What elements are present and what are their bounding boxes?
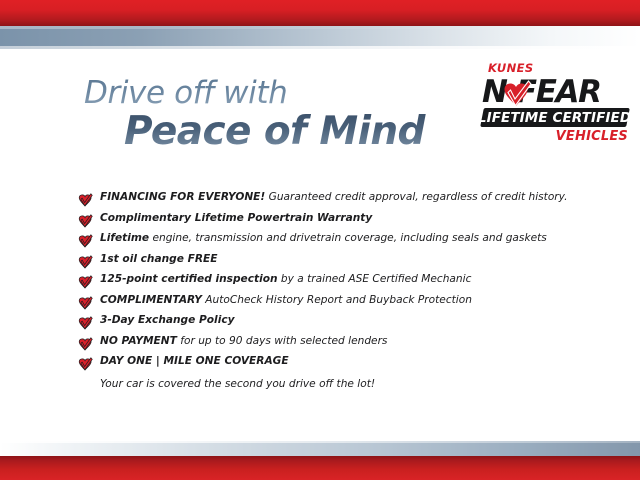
benefit-row: FINANCING FOR EVERYONE! Guaranteed credi…: [78, 191, 578, 207]
heart-check-icon: [78, 337, 93, 351]
benefit-rest: Guaranteed credit approval, regardless o…: [265, 191, 567, 203]
heart-check-icon: [500, 77, 532, 109]
bottom-silver-highlight: [0, 441, 640, 443]
benefit-text: FINANCING FOR EVERYONE! Guaranteed credi…: [100, 191, 567, 205]
benefit-bold: FINANCING FOR EVERYONE!: [100, 191, 265, 203]
benefit-row: DAY ONE | MILE ONE COVERAGE: [78, 355, 578, 371]
logo-lifetime-certified-text: LIFETIME CERTIFIED: [478, 109, 631, 125]
heart-check-icon: [78, 255, 93, 269]
benefit-bold: Lifetime: [100, 232, 149, 244]
headline-block: Drive off with Peace of Mind: [84, 78, 484, 153]
heart-check-icon: [78, 234, 93, 248]
benefit-rest: for up to 90 days with selected lenders: [177, 335, 388, 347]
list-item: Lifetime engine, transmission and drivet…: [78, 232, 578, 253]
benefit-row: 1st oil change FREE: [78, 253, 578, 269]
heart-check-icon: [78, 275, 93, 289]
heart-check-icon: [78, 316, 93, 330]
top-silver-lowlight: [0, 46, 640, 49]
benefits-list: FINANCING FOR EVERYONE! Guaranteed credi…: [78, 191, 578, 391]
benefit-row: Lifetime engine, transmission and drivet…: [78, 232, 578, 248]
benefit-subtext: Your car is covered the second you drive…: [100, 377, 578, 391]
headline-line-one: Drive off with: [84, 78, 484, 109]
benefit-bold: 3-Day Exchange Policy: [100, 314, 235, 326]
heart-check-icon: [78, 357, 93, 371]
top-silver-highlight: [0, 26, 640, 29]
benefit-text: Complimentary Lifetime Powertrain Warran…: [100, 212, 372, 226]
logo-brand-kunes: KUNES: [488, 63, 632, 75]
benefit-rest: AutoCheck History Report and Buyback Pro…: [202, 294, 472, 306]
benefit-text: 125-point certified inspection by a trai…: [100, 273, 471, 287]
benefit-text: DAY ONE | MILE ONE COVERAGE: [100, 355, 289, 369]
heart-check-icon: [78, 214, 93, 228]
list-item: Complimentary Lifetime Powertrain Warran…: [78, 212, 578, 233]
benefit-row: 125-point certified inspection by a trai…: [78, 273, 578, 289]
benefit-text: 1st oil change FREE: [100, 253, 218, 267]
heart-check-icon: [78, 193, 93, 207]
benefit-bold: NO PAYMENT: [100, 335, 177, 347]
benefit-rest: engine, transmission and drivetrain cove…: [149, 232, 547, 244]
list-item: DAY ONE | MILE ONE COVERAGE Your car is …: [78, 355, 578, 391]
bottom-silver-band: [0, 441, 640, 456]
list-item: 1st oil change FREE: [78, 253, 578, 274]
logo-nofear-row: N FEAR: [482, 76, 632, 109]
top-red-band: [0, 0, 640, 26]
list-item: NO PAYMENT for up to 90 days with select…: [78, 335, 578, 356]
benefit-text: NO PAYMENT for up to 90 days with select…: [100, 335, 387, 349]
benefit-bold: 1st oil change FREE: [100, 253, 218, 265]
benefit-bold: DAY ONE | MILE ONE COVERAGE: [100, 355, 289, 367]
benefit-bold: COMPLIMENTARY: [100, 294, 202, 306]
benefit-row: COMPLIMENTARY AutoCheck History Report a…: [78, 294, 578, 310]
benefit-row: Complimentary Lifetime Powertrain Warran…: [78, 212, 578, 228]
benefit-text: 3-Day Exchange Policy: [100, 314, 235, 328]
promo-flyer: Drive off with Peace of Mind KUNES N FEA…: [0, 0, 640, 480]
list-item: 3-Day Exchange Policy: [78, 314, 578, 335]
list-item: COMPLIMENTARY AutoCheck History Report a…: [78, 294, 578, 315]
logo-vehicles-text: VEHICLES: [482, 130, 632, 143]
benefit-bold: Complimentary Lifetime Powertrain Warran…: [100, 212, 372, 224]
list-item: 125-point certified inspection by a trai…: [78, 273, 578, 294]
benefit-bold: 125-point certified inspection: [100, 273, 278, 285]
benefit-text: Lifetime engine, transmission and drivet…: [100, 232, 547, 246]
benefit-text: COMPLIMENTARY AutoCheck History Report a…: [100, 294, 472, 308]
logo-lifetime-certified-bar: LIFETIME CERTIFIED: [480, 108, 630, 127]
bottom-red-band: [0, 456, 640, 480]
headline-line-two: Peace of Mind: [124, 112, 484, 153]
list-item: FINANCING FOR EVERYONE! Guaranteed credi…: [78, 191, 578, 212]
benefit-row: 3-Day Exchange Policy: [78, 314, 578, 330]
benefit-row: NO PAYMENT for up to 90 days with select…: [78, 335, 578, 351]
heart-check-icon: [78, 296, 93, 310]
kunes-no-fear-logo: KUNES N FEAR LIFETIME CERTIFIED VEHICLES: [482, 63, 632, 143]
benefit-rest: by a trained ASE Certified Mechanic: [278, 273, 472, 285]
